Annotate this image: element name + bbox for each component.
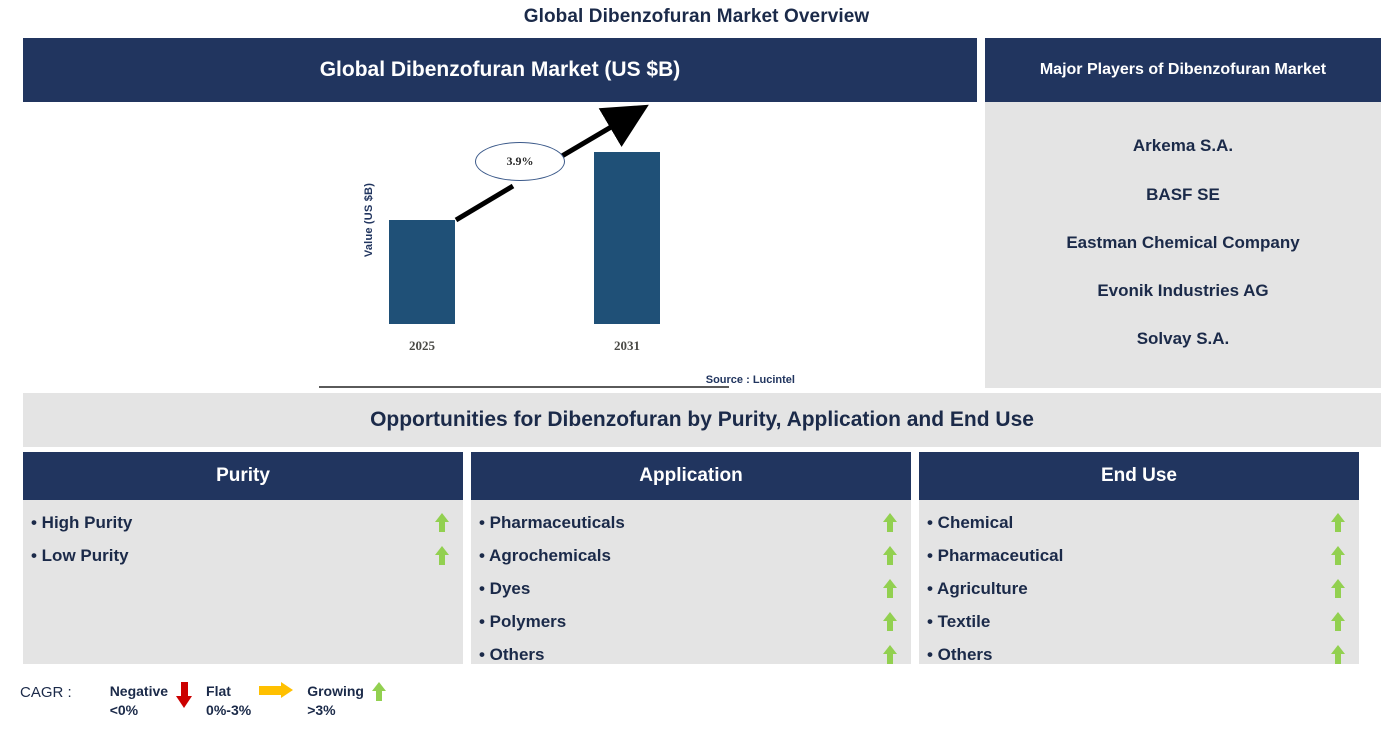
chart-panel-header: Global Dibenzofuran Market (US $B) (23, 38, 977, 102)
legend-growing-range: >3% (307, 701, 364, 720)
cagr-legend-title: CAGR : (20, 682, 72, 701)
arrow-up-icon (883, 579, 897, 598)
chart-y-axis-label: Value (US $B) (363, 160, 375, 280)
legend-item-flat: Flat 0%-3% (206, 682, 293, 720)
bar-2031 (594, 152, 660, 324)
list-item: • Low Purity (31, 539, 449, 572)
arrow-up-icon (883, 645, 897, 664)
legend-negative-range: <0% (110, 701, 168, 720)
chart-plot-area: Value (US $B) 3.9% 2025 2031 Source : Lu… (23, 102, 977, 388)
list-item: • Pharmaceutical (927, 539, 1345, 572)
list-item-label: • Chemical (927, 513, 1013, 533)
x-tick-2025: 2025 (362, 338, 482, 354)
column-end-use: End Use • Chemical • Pharmaceutical • Ag… (919, 452, 1359, 664)
page-title: Global Dibenzofuran Market Overview (0, 6, 1393, 28)
legend-flat-label: Flat (206, 683, 231, 699)
column-body-application: • Pharmaceuticals • Agrochemicals • Dyes… (471, 500, 911, 664)
list-item: • High Purity (31, 506, 449, 539)
list-item: • Dyes (479, 572, 897, 605)
column-header-purity: Purity (23, 452, 463, 500)
players-list: Arkema S.A. BASF SE Eastman Chemical Com… (985, 102, 1381, 388)
players-panel-header: Major Players of Dibenzofuran Market (985, 38, 1381, 102)
legend-item-growing: Growing >3% (307, 682, 386, 720)
list-item-label: • Pharmaceuticals (479, 513, 625, 533)
arrow-up-icon (1331, 612, 1345, 631)
arrow-right-icon (259, 682, 293, 698)
column-purity: Purity • High Purity • Low Purity (23, 452, 463, 664)
player-item: Eastman Chemical Company (1066, 234, 1299, 253)
arrow-up-icon (435, 546, 449, 565)
arrow-up-icon (1331, 579, 1345, 598)
list-item-label: • Agrochemicals (479, 546, 611, 566)
player-item: Evonik Industries AG (1097, 282, 1268, 301)
list-item: • Others (927, 638, 1345, 671)
major-players-panel: Major Players of Dibenzofuran Market Ark… (985, 38, 1381, 388)
legend-growing-text: Growing >3% (307, 682, 364, 720)
arrow-up-icon (372, 682, 386, 701)
column-body-end-use: • Chemical • Pharmaceutical • Agricultur… (919, 500, 1359, 664)
legend-flat-range: 0%-3% (206, 701, 251, 720)
market-chart-panel: Global Dibenzofuran Market (US $B) Value… (23, 38, 977, 388)
legend-growing-label: Growing (307, 683, 364, 699)
arrow-up-icon (883, 546, 897, 565)
arrow-up-icon (1331, 513, 1345, 532)
column-header-end-use: End Use (919, 452, 1359, 500)
arrow-up-icon (883, 513, 897, 532)
list-item-label: • Agriculture (927, 579, 1028, 599)
cagr-legend: CAGR : Negative <0% Flat 0%-3% Growing >… (20, 682, 386, 720)
column-header-application: Application (471, 452, 911, 500)
player-item: Solvay S.A. (1137, 330, 1230, 349)
player-item: Arkema S.A. (1133, 137, 1233, 156)
arrow-down-icon (176, 682, 192, 708)
list-item: • Textile (927, 605, 1345, 638)
list-item-label: • Polymers (479, 612, 566, 632)
list-item-label: • High Purity (31, 513, 132, 533)
chart-source-note: Source : Lucintel (706, 374, 795, 386)
list-item: • Agriculture (927, 572, 1345, 605)
bar-2025 (389, 220, 455, 324)
x-tick-2031: 2031 (567, 338, 687, 354)
column-body-purity: • High Purity • Low Purity (23, 500, 463, 664)
list-item-label: • Low Purity (31, 546, 129, 566)
opportunities-columns: Purity • High Purity • Low Purity Applic… (23, 452, 1381, 664)
list-item: • Polymers (479, 605, 897, 638)
list-item-label: • Pharmaceutical (927, 546, 1063, 566)
cagr-callout: 3.9% (475, 142, 565, 181)
list-item: • Pharmaceuticals (479, 506, 897, 539)
list-item-label: • Textile (927, 612, 990, 632)
legend-negative-label: Negative (110, 683, 168, 699)
legend-flat-text: Flat 0%-3% (206, 682, 251, 720)
list-item-label: • Others (927, 645, 992, 665)
arrow-up-icon (435, 513, 449, 532)
opportunities-banner: Opportunities for Dibenzofuran by Purity… (23, 393, 1381, 447)
column-application: Application • Pharmaceuticals • Agrochem… (471, 452, 911, 664)
arrow-up-icon (1331, 645, 1345, 664)
list-item: • Others (479, 638, 897, 671)
legend-item-negative: Negative <0% (110, 682, 192, 720)
list-item-label: • Dyes (479, 579, 530, 599)
arrow-up-icon (883, 612, 897, 631)
arrow-up-icon (1331, 546, 1345, 565)
legend-negative-text: Negative <0% (110, 682, 168, 720)
list-item: • Chemical (927, 506, 1345, 539)
player-item: BASF SE (1146, 186, 1220, 205)
chart-x-axis-line (319, 386, 729, 388)
list-item: • Agrochemicals (479, 539, 897, 572)
list-item-label: • Others (479, 645, 544, 665)
